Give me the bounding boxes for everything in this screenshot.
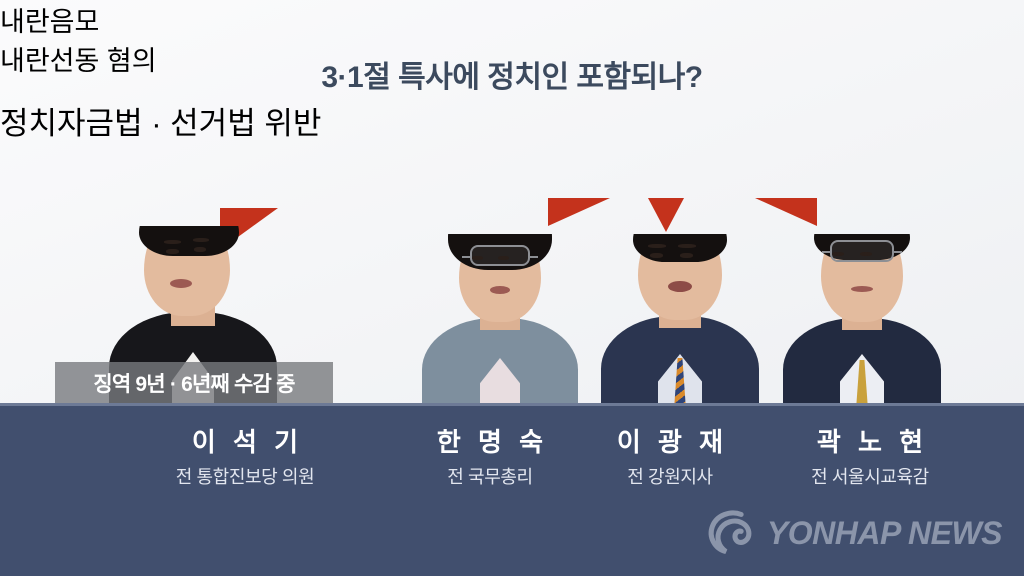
eye-right <box>498 256 509 260</box>
eye-right <box>860 252 872 256</box>
portrait-photo-3 <box>600 234 760 404</box>
portrait-3-figure <box>600 234 760 404</box>
name-block-1: 이 석 기 전 통합진보당 의원 <box>110 422 380 489</box>
person-name: 이 광 재 <box>570 422 770 459</box>
brow-right <box>678 244 696 248</box>
person-name: 곽 노 현 <box>755 422 985 459</box>
name-block-2: 한 명 숙 전 국무총리 <box>390 422 590 489</box>
mouth <box>490 286 510 294</box>
name-block-3: 이 광 재 전 강원지사 <box>570 422 770 489</box>
person-name: 한 명 숙 <box>390 422 590 459</box>
status-badge-text: 징역 9년 · 6년째 수감 중 <box>93 368 294 398</box>
person-title: 전 국무총리 <box>390 463 590 489</box>
eye-right <box>194 247 206 252</box>
watermark: YONHAP NEWS <box>704 506 1002 560</box>
charge-bubble-right-text: 정치자금법 · 선거법 위반 <box>0 106 321 141</box>
mouth <box>668 281 692 292</box>
eye-left <box>832 252 844 256</box>
person-title: 전 통합진보당 의원 <box>110 463 380 489</box>
eye-right <box>680 253 693 258</box>
bubble-tail-right-2 <box>648 198 684 232</box>
brow-left <box>164 240 181 244</box>
page-title: 3·1절 특사에 정치인 포함되나? <box>0 52 1024 96</box>
brow-right <box>193 238 209 242</box>
brow-left <box>648 244 666 248</box>
hair <box>633 234 727 262</box>
portrait-2-figure <box>420 234 580 404</box>
yonhap-swirl-icon <box>704 506 758 560</box>
eye-left <box>166 249 179 254</box>
watermark-text: YONHAP NEWS <box>767 515 1002 552</box>
portrait-photo-2 <box>420 234 580 404</box>
names-panel: 이 석 기 전 통합진보당 의원 한 명 숙 전 국무총리 이 광 재 전 강원… <box>0 403 1024 576</box>
infographic-canvas: 3·1절 특사에 정치인 포함되나? 내란음모 내란선동 혐의 정치자금법 · … <box>0 0 1024 576</box>
name-block-4: 곽 노 현 전 서울시교육감 <box>755 422 985 489</box>
person-title: 전 서울시교육감 <box>755 463 985 489</box>
person-name: 이 석 기 <box>110 422 380 459</box>
charge-bubble-right: 정치자금법 · 선거법 위반 <box>0 98 420 176</box>
eye-left <box>472 256 483 260</box>
glasses-icon <box>830 240 894 262</box>
person-title: 전 강원지사 <box>570 463 770 489</box>
mouth <box>170 279 192 288</box>
hair <box>139 226 239 256</box>
eye-left <box>650 253 663 258</box>
bubble-tail-right-3 <box>755 198 817 226</box>
bubble-tail-right-1 <box>548 198 610 226</box>
mouth <box>851 286 873 292</box>
portrait-photo-4 <box>782 234 942 404</box>
portrait-4-figure <box>782 234 942 404</box>
charge-line-1: 내란음모 <box>0 0 262 39</box>
status-badge: 징역 9년 · 6년째 수감 중 <box>55 362 333 404</box>
